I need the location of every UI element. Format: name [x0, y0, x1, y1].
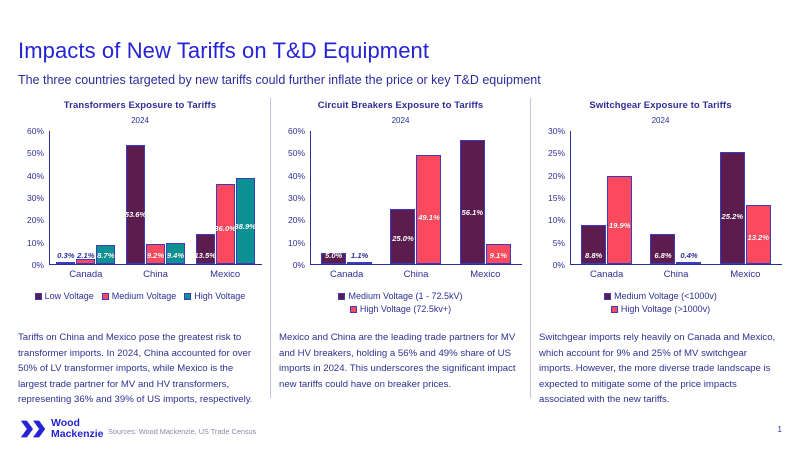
x-axis-label: China [641, 269, 710, 280]
legend-swatch-icon [350, 306, 357, 313]
panel-switchgear: Switchgear Exposure to Tariffs 2024 0%5%… [530, 98, 790, 398]
legend-item[interactable]: Medium Voltage [102, 291, 177, 301]
bar[interactable]: 2.1% [76, 259, 95, 264]
legend-item[interactable]: Medium Voltage (1 - 72.5kV) [338, 291, 462, 301]
bar[interactable]: 6.8% [650, 234, 675, 264]
bar[interactable]: 0.4% [676, 262, 701, 264]
bar-value-label: 36.0% [214, 224, 236, 233]
bar[interactable]: 36.0% [216, 184, 235, 264]
chart-plot: 0%10%20%30%40%50%60% 5.0%1.1%25.0%49.1%5… [279, 131, 522, 283]
chart-subtitle: 2024 [14, 116, 266, 125]
y-axis: 0%5%10%15%20%25%30% [539, 131, 569, 265]
page-number: 1 [778, 425, 782, 434]
y-axis-tick: 10% [288, 238, 305, 248]
chart-title: Circuit Breakers Exposure to Tariffs [275, 100, 526, 111]
bar-value-label: 56.1% [462, 208, 484, 217]
x-axis-label: Mexico [451, 269, 520, 280]
y-axis-tick: 0% [553, 260, 565, 270]
y-axis: 0%10%20%30%40%50%60% [18, 131, 48, 265]
chart-plot: 0%10%20%30%40%50%60% 0.3%2.1%8.7%53.6%9.… [18, 131, 262, 283]
bar[interactable]: 9.4% [166, 243, 185, 264]
legend-item[interactable]: Low Voltage [35, 291, 94, 301]
plot-area: 5.0%1.1%25.0%49.1%56.1%9.1% [312, 131, 520, 264]
y-axis-tick: 40% [27, 171, 44, 181]
y-axis-tick: 30% [548, 126, 565, 136]
bar[interactable]: 9.1% [486, 244, 511, 264]
chart-legend: Medium Voltage (1 - 72.5kV)High Voltage … [275, 291, 526, 314]
panel-transformers: Transformers Exposure to Tariffs 2024 0%… [10, 98, 270, 398]
y-axis-tick: 50% [27, 148, 44, 158]
bar-value-label: 0.3% [57, 251, 74, 260]
bar[interactable]: 1.1% [347, 262, 372, 264]
bar-value-label: 13.2% [748, 233, 770, 242]
y-axis-tick: 20% [548, 171, 565, 181]
y-axis-tick: 10% [548, 215, 565, 225]
bar-value-label: 25.0% [392, 234, 414, 243]
bar[interactable]: 56.1% [460, 140, 485, 264]
x-axis-labels: CanadaChinaMexico [572, 266, 780, 283]
legend-label: Medium Voltage [112, 291, 177, 301]
plot-area: 8.8%19.9%6.8%0.4%25.2%13.2% [572, 131, 780, 264]
legend-label: High Voltage [194, 291, 245, 301]
x-axis-label: Mexico [190, 269, 260, 280]
bar-value-label: 2.1% [77, 251, 94, 260]
bar-value-label: 25.2% [722, 212, 744, 221]
y-axis-tick: 0% [293, 260, 305, 270]
bar-value-label: 53.6% [125, 210, 147, 219]
y-axis-tick: 20% [27, 215, 44, 225]
legend-label: High Voltage (>1000v) [621, 304, 710, 314]
chart-legend: Low VoltageMedium VoltageHigh Voltage [14, 291, 266, 301]
legend-item[interactable]: Medium Voltage (<1000v) [604, 291, 717, 301]
bar-group: 0.3%2.1%8.7% [51, 131, 121, 264]
y-axis-tick: 40% [288, 171, 305, 181]
logo-text: WoodMackenzie [51, 418, 104, 440]
bar-value-label: 8.8% [585, 251, 602, 260]
chart-legend: Medium Voltage (<1000v)High Voltage (>10… [535, 291, 786, 314]
bar[interactable]: 5.0% [321, 253, 346, 264]
bar[interactable]: 8.8% [581, 225, 606, 264]
chart-title: Switchgear Exposure to Tariffs [535, 100, 786, 111]
y-axis-tick: 15% [548, 193, 565, 203]
bar-value-label: 19.9% [609, 221, 631, 230]
logo-line-2: Mackenzie [51, 428, 104, 440]
chart-subtitle: 2024 [275, 116, 526, 125]
bar-value-label: 1.1% [351, 251, 368, 260]
bar[interactable]: 0.3% [56, 262, 75, 264]
x-axis-labels: CanadaChinaMexico [312, 266, 520, 283]
y-axis-tick: 60% [288, 126, 305, 136]
x-axis-label: Canada [312, 269, 381, 280]
x-axis-label: Canada [51, 269, 121, 280]
legend-label: Low Voltage [45, 291, 94, 301]
bar-group: 25.0%49.1% [381, 131, 450, 264]
y-axis: 0%10%20%30%40%50%60% [279, 131, 309, 265]
bar[interactable]: 25.2% [720, 152, 745, 264]
chart-panels: Transformers Exposure to Tariffs 2024 0%… [10, 98, 792, 398]
bar-value-label: 9.4% [167, 251, 184, 260]
bar[interactable]: 38.9% [236, 178, 255, 264]
legend-label: High Voltage (72.5kv+) [360, 304, 451, 314]
legend-swatch-icon [184, 293, 191, 300]
bar-value-label: 8.7% [97, 251, 114, 260]
plot-area: 0.3%2.1%8.7%53.6%9.2%9.4%13.5%36.0%38.9% [51, 131, 260, 264]
legend-swatch-icon [611, 306, 618, 313]
chart-title: Transformers Exposure to Tariffs [14, 100, 266, 111]
legend-label: Medium Voltage (<1000v) [614, 291, 717, 301]
y-axis-tick: 20% [288, 215, 305, 225]
sources-note: Sources: Wood Mackenzie, US Trade Census [108, 427, 256, 436]
legend-swatch-icon [102, 293, 109, 300]
bar-value-label: 9.2% [147, 251, 164, 260]
x-axis-label: China [381, 269, 450, 280]
legend-item[interactable]: High Voltage (>1000v) [611, 304, 710, 314]
bar-value-label: 6.8% [654, 251, 671, 260]
y-axis-tick: 10% [27, 238, 44, 248]
bar[interactable]: 13.5% [196, 234, 215, 264]
y-axis-tick: 60% [27, 126, 44, 136]
panel-description: Switchgear imports rely heavily on Canad… [539, 330, 782, 408]
slide: Impacts of New Tariffs on T&D Equipment … [0, 0, 800, 450]
y-axis-tick: 50% [288, 148, 305, 158]
y-axis-tick: 30% [288, 193, 305, 203]
bar-group: 53.6%9.2%9.4% [121, 131, 191, 264]
bar[interactable]: 53.6% [126, 145, 145, 264]
bar-group: 8.8%19.9% [572, 131, 641, 264]
legend-swatch-icon [35, 293, 42, 300]
panel-description: Mexico and China are the leading trade p… [279, 330, 522, 392]
y-axis-tick: 30% [27, 193, 44, 203]
bar-group: 25.2%13.2% [711, 131, 780, 264]
y-axis-tick: 0% [32, 260, 44, 270]
legend-label: Medium Voltage (1 - 72.5kV) [348, 291, 462, 301]
bar[interactable]: 9.2% [146, 244, 165, 264]
bar-value-label: 5.0% [325, 251, 342, 260]
bar-value-label: 38.9% [234, 222, 256, 231]
bar-value-label: 0.4% [680, 251, 697, 260]
bar[interactable]: 49.1% [416, 155, 441, 264]
x-axis-label: Canada [572, 269, 641, 280]
y-axis-tick: 5% [553, 238, 565, 248]
y-axis-tick: 25% [548, 148, 565, 158]
legend-item[interactable]: High Voltage (72.5kv+) [350, 304, 451, 314]
panel-circuit-breakers: Circuit Breakers Exposure to Tariffs 202… [270, 98, 530, 398]
x-axis-label: China [121, 269, 191, 280]
bar-group: 56.1%9.1% [451, 131, 520, 264]
legend-item[interactable]: High Voltage [184, 291, 245, 301]
bar-group: 13.5%36.0%38.9% [190, 131, 260, 264]
x-axis-label: Mexico [711, 269, 780, 280]
x-axis-labels: CanadaChinaMexico [51, 266, 260, 283]
chart-plot: 0%5%10%15%20%25%30% 8.8%19.9%6.8%0.4%25.… [539, 131, 782, 283]
bar-value-label: 49.1% [418, 213, 440, 222]
legend-swatch-icon [338, 293, 345, 300]
chart-subtitle: 2024 [535, 116, 786, 125]
bar[interactable]: 19.9% [607, 176, 632, 264]
bar-group: 5.0%1.1% [312, 131, 381, 264]
bar-value-label: 13.5% [194, 251, 216, 260]
bar[interactable]: 13.2% [746, 205, 771, 264]
wood-mackenzie-logo: WoodMackenzie [20, 418, 104, 440]
logo-mark-icon [20, 419, 46, 439]
page-title: Impacts of New Tariffs on T&D Equipment [18, 38, 429, 64]
bar[interactable]: 25.0% [390, 209, 415, 264]
bar-value-label: 9.1% [490, 251, 507, 260]
bar-group: 6.8%0.4% [641, 131, 710, 264]
panel-description: Tariffs on China and Mexico pose the gre… [18, 330, 262, 408]
bar[interactable]: 8.7% [96, 245, 115, 264]
page-subtitle: The three countries targeted by new tari… [18, 73, 541, 87]
legend-swatch-icon [604, 293, 611, 300]
